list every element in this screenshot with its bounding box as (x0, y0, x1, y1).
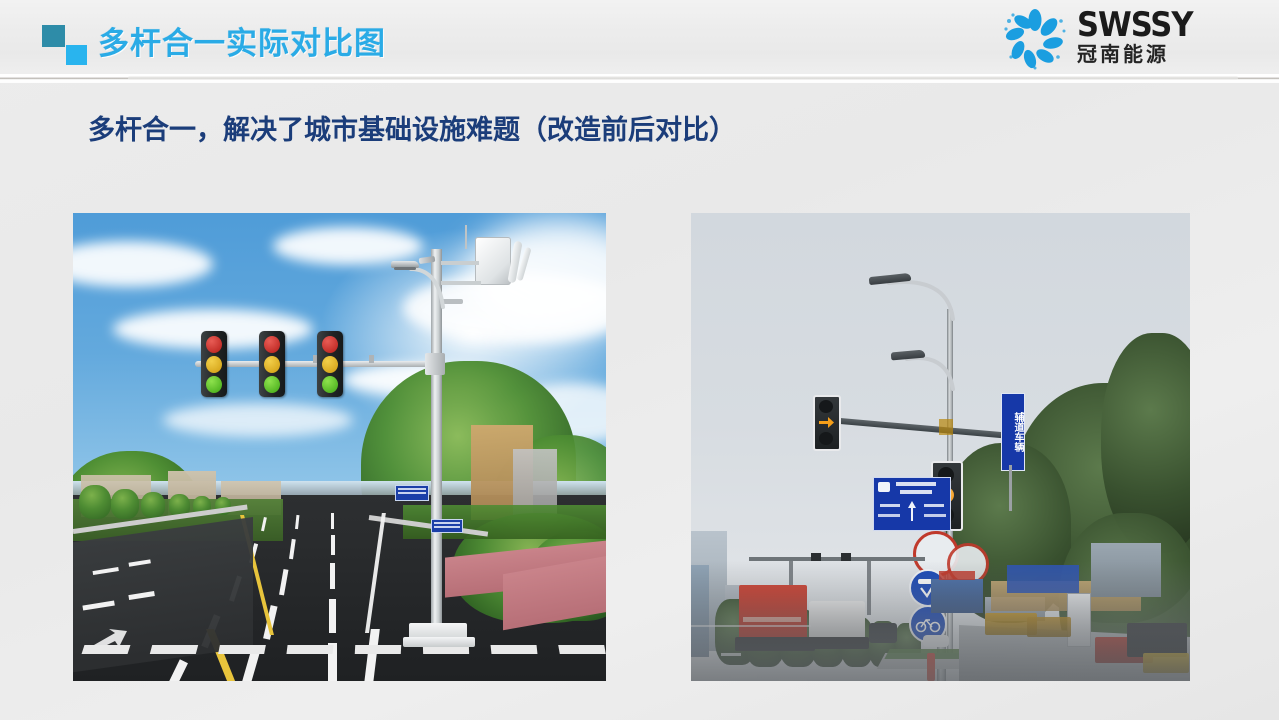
lane-marking (331, 535, 335, 555)
lane-marking (331, 513, 334, 529)
slide-subtitle: 多杆合一，解决了城市基础设施难题（改造前后对比） (88, 108, 736, 147)
lane-sign-vertical: 辅道车辆 (1001, 393, 1025, 471)
logo-chinese-name: 冠南能源 (1077, 44, 1257, 66)
page-title: 多杆合一实际对比图 (98, 18, 386, 63)
equipment-mount-arm (441, 281, 481, 285)
title-bullet-square-dark (42, 25, 65, 47)
sign-post (1009, 465, 1012, 511)
signal-green-lamp (206, 376, 222, 393)
signal-red-lamp (206, 336, 222, 353)
logo-text-block: SWSSY 冠南能源 (1077, 8, 1257, 66)
company-logo: SWSSY 冠南能源 (1001, 5, 1261, 73)
lane-marking (330, 563, 335, 589)
title-bullet-icon (40, 22, 92, 66)
traffic-signal-head (201, 331, 227, 397)
water-droplet-flower-icon (1001, 7, 1069, 71)
right-arrow-icon (818, 415, 835, 430)
logo-wordmark: SWSSY (1077, 8, 1257, 42)
tree (111, 489, 139, 519)
arrow-traffic-signal (813, 395, 841, 451)
lane-marking (329, 599, 336, 633)
guide-sign (431, 519, 463, 533)
crosswalk (73, 637, 606, 681)
signal-lamp-dark (819, 432, 833, 445)
signal-green-lamp (322, 376, 338, 393)
tree (79, 485, 111, 519)
distant-signal (811, 553, 821, 561)
direction-guide-sign (873, 477, 951, 531)
signal-green-lamp (264, 376, 280, 393)
cloud (163, 403, 353, 437)
slide-canvas: 多杆合一实际对比图 (0, 0, 1279, 720)
arm-clamp (369, 355, 374, 363)
signal-yellow-lamp (322, 356, 338, 373)
road-foreground (691, 561, 1190, 681)
signal-red-lamp (322, 336, 338, 353)
streetlight-housing (394, 267, 416, 270)
tree (141, 492, 165, 518)
image-before-photo[interactable]: 辅道车辆 (691, 213, 1190, 681)
signal-yellow-lamp (206, 356, 222, 373)
image-after-render[interactable] (73, 213, 606, 681)
traffic-signal-head (259, 331, 285, 397)
antenna-whip (465, 225, 467, 249)
arm-joint (939, 419, 953, 435)
title-bullet-square-light (66, 45, 87, 65)
arm-pole-joint (425, 353, 445, 375)
5g-base-station-box (475, 237, 511, 285)
signal-yellow-lamp (264, 356, 280, 373)
traffic-signal-head (317, 331, 343, 397)
signal-red-lamp (264, 336, 280, 353)
distant-signal (841, 553, 851, 561)
equipment-mount-arm (441, 261, 479, 265)
guide-sign (395, 485, 429, 501)
signal-lamp-dark (819, 400, 833, 413)
pole-foundation (403, 637, 475, 647)
header-divider-inner (128, 76, 1238, 80)
cloud (273, 227, 423, 265)
